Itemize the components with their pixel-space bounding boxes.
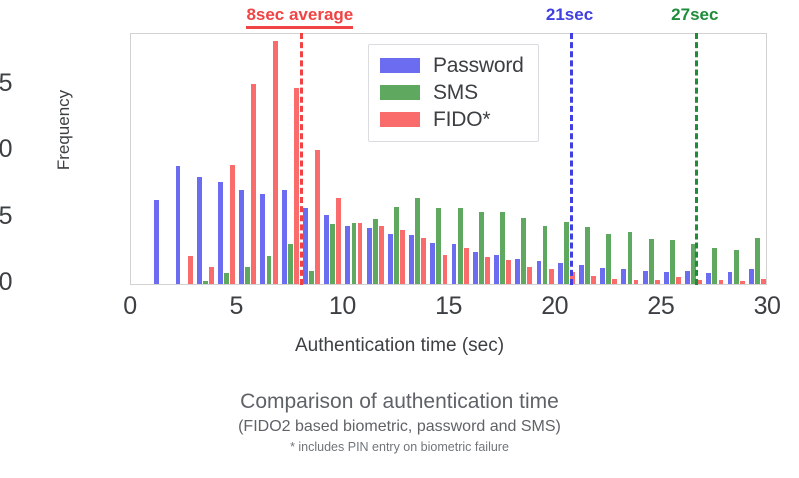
bar-fido-23 xyxy=(655,280,660,284)
bar-password-15 xyxy=(473,252,478,284)
bar-fido-26 xyxy=(719,280,724,284)
bar-fido-27 xyxy=(740,281,745,284)
annotation-line xyxy=(300,33,303,285)
bar-fido-3 xyxy=(230,165,235,284)
bar-sms-6 xyxy=(288,244,293,284)
bar-password-2 xyxy=(197,177,202,284)
bar-fido-25 xyxy=(697,280,702,284)
bar-sms-23 xyxy=(649,239,654,284)
bar-fido-9 xyxy=(358,223,363,284)
legend-item[interactable]: FIDO* xyxy=(380,106,527,133)
bar-fido-2 xyxy=(209,267,214,284)
bar-sms-17 xyxy=(521,218,526,284)
bar-sms-21 xyxy=(606,234,611,284)
bar-sms-15 xyxy=(479,212,484,284)
bar-fido-7 xyxy=(315,150,320,284)
annotation-label-text: 27sec xyxy=(671,5,718,24)
bar-fido-28 xyxy=(761,279,766,284)
bar-password-23 xyxy=(643,271,648,284)
bar-sms-16 xyxy=(500,212,505,284)
bar-password-19 xyxy=(558,263,563,284)
bar-password-7 xyxy=(303,208,308,284)
bar-password-13 xyxy=(430,243,435,284)
bar-fido-1 xyxy=(188,256,193,284)
bar-password-3 xyxy=(218,182,223,284)
bar-fido-17 xyxy=(527,267,532,284)
bar-fido-13 xyxy=(443,255,448,284)
y-tick-label: 0.10 xyxy=(0,135,12,164)
bar-sms-3 xyxy=(224,273,229,284)
caption-subtitle: (FIDO2 based biometric, password and SMS… xyxy=(0,416,799,438)
bar-fido-15 xyxy=(485,257,490,284)
bar-sms-12 xyxy=(415,198,420,284)
annotation-label-text: 21sec xyxy=(546,5,593,24)
bar-fido-6 xyxy=(294,88,299,284)
y-tick-label: 0.00 xyxy=(0,268,12,297)
bar-sms-10 xyxy=(373,219,378,284)
bar-password-24 xyxy=(664,272,669,284)
annotation-label: 8sec average xyxy=(215,5,385,29)
bar-sms-20 xyxy=(585,227,590,284)
bar-password-6 xyxy=(282,190,287,284)
x-tick-label: 0 xyxy=(100,292,160,321)
bar-password-1 xyxy=(176,166,181,284)
x-tick-label: 30 xyxy=(737,292,797,321)
x-tick-label: 15 xyxy=(419,292,479,321)
bar-fido-10 xyxy=(379,226,384,284)
bar-password-8 xyxy=(324,215,329,284)
bar-password-10 xyxy=(367,228,372,284)
bar-sms-22 xyxy=(628,232,633,284)
y-axis-label: Frequency xyxy=(54,30,74,230)
bar-password-27 xyxy=(728,272,733,284)
bar-sms-19 xyxy=(564,222,569,284)
legend-swatch-password xyxy=(380,58,420,73)
bar-sms-13 xyxy=(436,208,441,284)
legend-swatch-sms xyxy=(380,85,420,100)
legend-label-fido: FIDO* xyxy=(433,108,490,132)
bar-password-14 xyxy=(452,244,457,284)
legend-label-password: Password xyxy=(433,54,524,78)
bar-sms-2 xyxy=(203,281,208,284)
bar-sms-26 xyxy=(712,248,717,284)
bar-fido-5 xyxy=(273,41,278,284)
bar-password-11 xyxy=(388,234,393,284)
bar-sms-7 xyxy=(309,271,314,284)
y-tick-label: 0.15 xyxy=(0,69,12,98)
bar-password-20 xyxy=(579,265,584,284)
bar-fido-4 xyxy=(251,84,256,284)
bar-password-16 xyxy=(494,255,499,284)
bar-fido-14 xyxy=(464,248,469,284)
bar-sms-28 xyxy=(755,238,760,284)
bar-password-5 xyxy=(260,194,265,284)
bar-sms-27 xyxy=(734,250,739,284)
bar-sms-5 xyxy=(267,256,272,284)
chart-caption: Comparison of authentication time (FIDO2… xyxy=(0,388,799,457)
bar-fido-20 xyxy=(591,276,596,284)
bar-password-28 xyxy=(749,269,754,284)
x-tick-label: 10 xyxy=(312,292,372,321)
x-tick-label: 25 xyxy=(631,292,691,321)
legend-item[interactable]: Password xyxy=(380,52,527,79)
bar-sms-9 xyxy=(352,223,357,284)
bar-password-22 xyxy=(621,269,626,284)
bar-password-12 xyxy=(409,235,414,284)
bar-fido-24 xyxy=(676,277,681,284)
bar-password-0 xyxy=(154,200,159,284)
bar-sms-24 xyxy=(670,240,675,284)
annotation-label: 27sec xyxy=(610,5,780,25)
x-axis-label: Authentication time (sec) xyxy=(0,335,799,357)
bar-sms-18 xyxy=(543,226,548,284)
bar-fido-12 xyxy=(421,238,426,284)
bar-fido-11 xyxy=(400,230,405,284)
annotation-label-text: 8sec average xyxy=(246,5,353,29)
y-tick-label: 0.05 xyxy=(0,202,12,231)
caption-title: Comparison of authentication time xyxy=(0,388,799,416)
bar-password-17 xyxy=(515,259,520,284)
bar-password-21 xyxy=(600,268,605,284)
bar-password-9 xyxy=(345,226,350,284)
legend-label-sms: SMS xyxy=(433,81,478,105)
bar-fido-8 xyxy=(336,198,341,284)
bar-fido-18 xyxy=(549,269,554,284)
bar-sms-8 xyxy=(330,224,335,284)
bar-sms-11 xyxy=(394,207,399,284)
bar-password-25 xyxy=(685,271,690,284)
bar-fido-16 xyxy=(506,260,511,284)
chart-legend: Password SMS FIDO* xyxy=(368,44,539,142)
x-tick-label: 5 xyxy=(206,292,266,321)
bar-sms-4 xyxy=(245,267,250,284)
bar-sms-14 xyxy=(458,208,463,284)
bar-password-4 xyxy=(239,190,244,284)
annotation-line xyxy=(695,33,698,285)
x-tick-label: 20 xyxy=(525,292,585,321)
bar-password-18 xyxy=(537,261,542,284)
bar-fido-22 xyxy=(634,280,639,284)
caption-footnote: * includes PIN entry on biometric failur… xyxy=(0,438,799,457)
legend-swatch-fido xyxy=(380,112,420,127)
bar-password-26 xyxy=(706,273,711,284)
annotation-line xyxy=(570,33,573,285)
bar-fido-21 xyxy=(612,279,617,284)
chart-figure: Frequency 0.000.050.100.15 8sec average2… xyxy=(0,0,799,478)
legend-item[interactable]: SMS xyxy=(380,79,527,106)
